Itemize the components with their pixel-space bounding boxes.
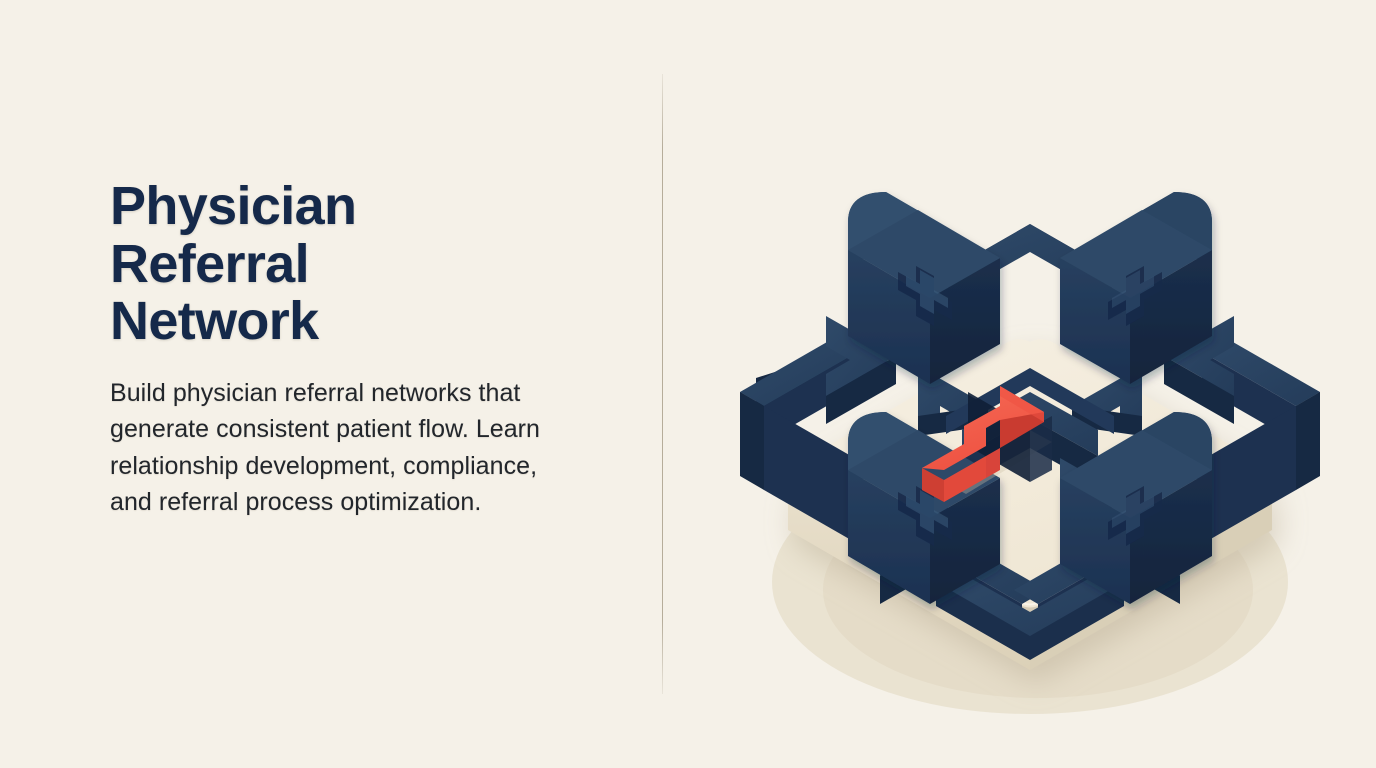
- text-column: Physician Referral Network Build physici…: [110, 178, 580, 521]
- network-diagram-svg: [700, 130, 1360, 730]
- isometric-referral-network-illustration: [700, 130, 1360, 730]
- slide-canvas: Physician Referral Network Build physici…: [0, 0, 1376, 768]
- vertical-divider: [662, 74, 663, 694]
- page-title: Physician Referral Network: [110, 178, 580, 351]
- page-description: Build physician referral networks that g…: [110, 375, 550, 521]
